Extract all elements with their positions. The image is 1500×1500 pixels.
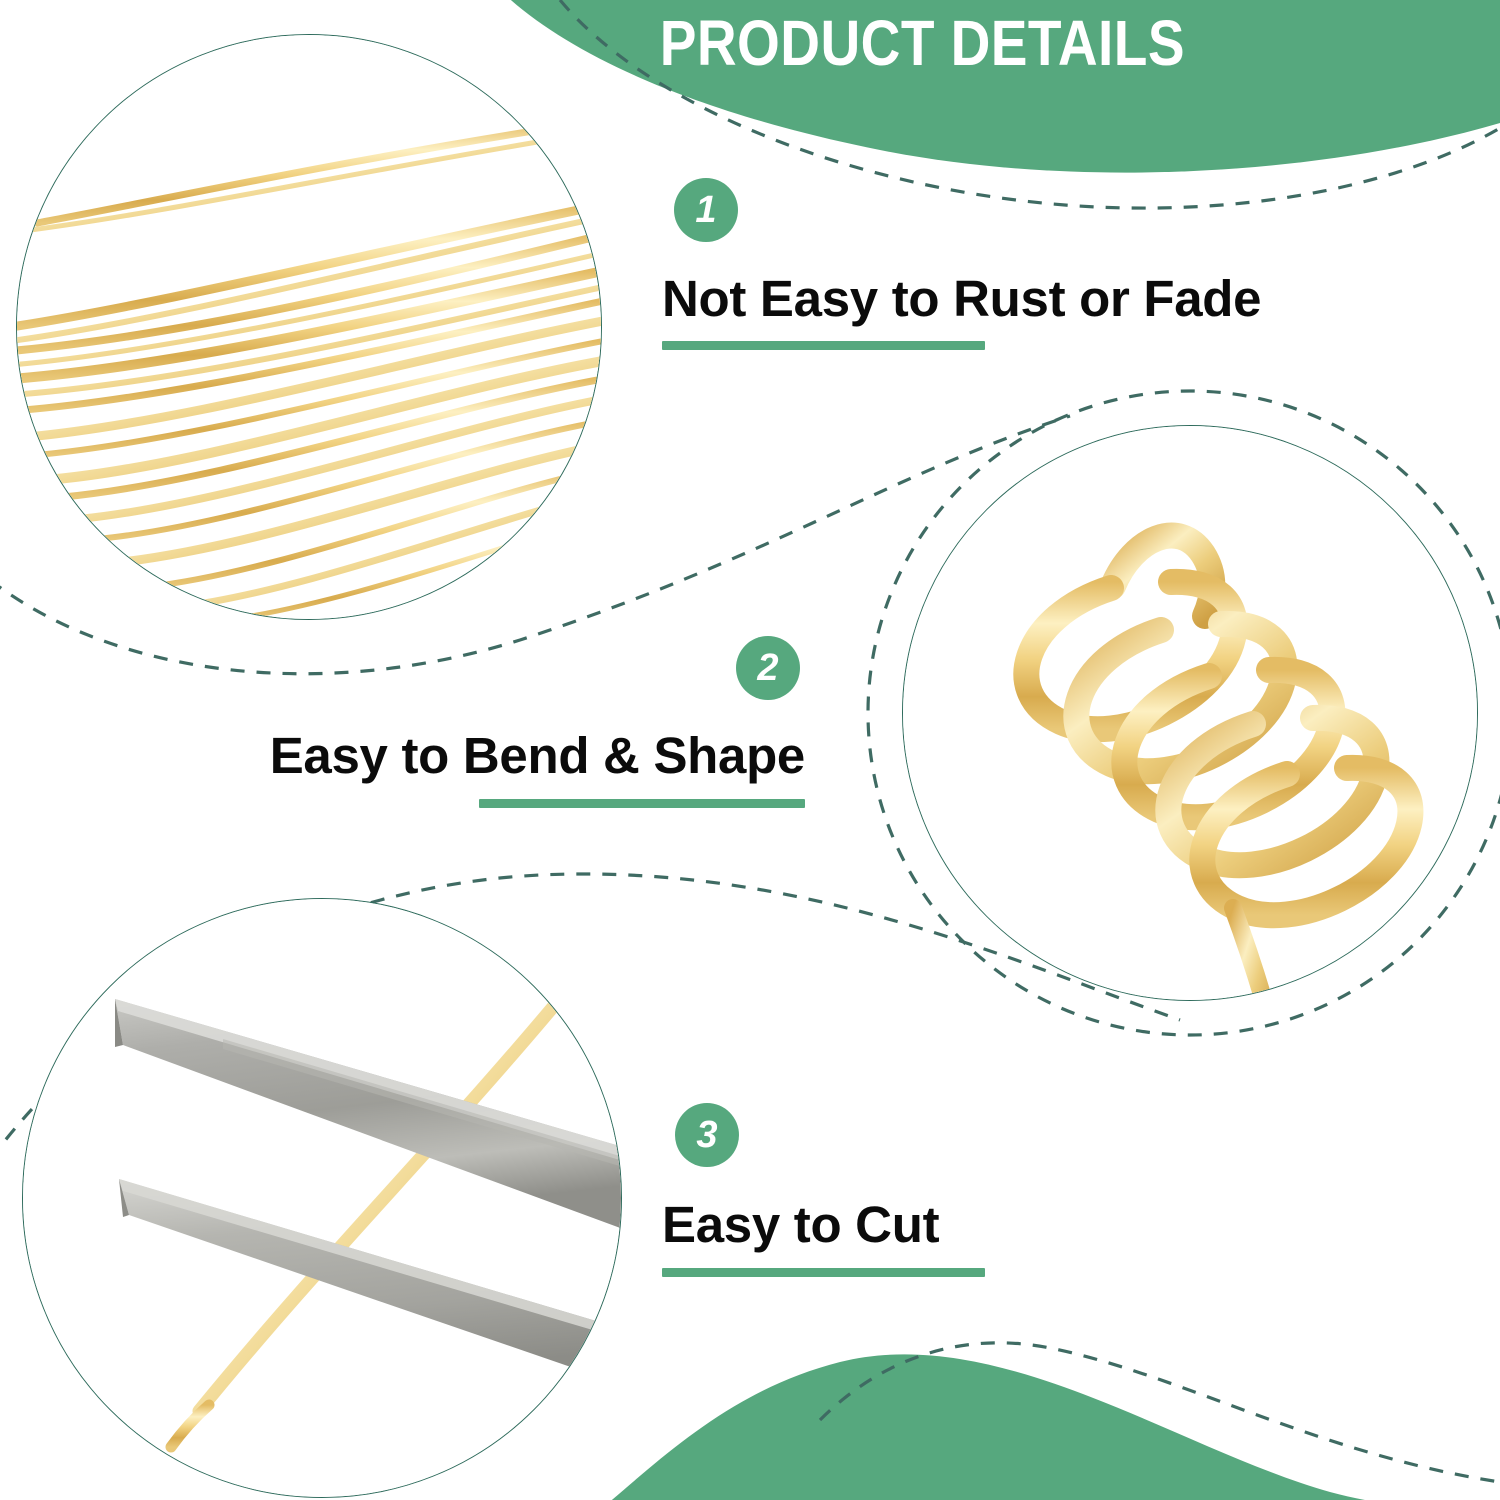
gold-wire-strands-art: [17, 35, 602, 620]
feature-title-2: Easy to Bend & Shape: [240, 728, 805, 784]
wire-cutting-pliers-photo: [22, 898, 622, 1498]
page-title: PRODUCT DETAILS: [645, 8, 1200, 78]
bottom-green-wave: [600, 1354, 1500, 1500]
feature-badge-3: 3: [675, 1103, 739, 1167]
feature-badge-1: 1: [674, 178, 738, 242]
feature-title-3: Easy to Cut: [662, 1197, 985, 1253]
feature-block-2: 2 Easy to Bend & Shape: [240, 636, 805, 808]
feature-block-1: 1 Not Easy to Rust or Fade: [662, 178, 1261, 350]
gold-wire-coil-art: [903, 426, 1478, 1001]
feature-badge-2: 2: [736, 636, 800, 700]
wire-cutting-pliers-art: [23, 899, 622, 1498]
bottom-dashed-curve: [820, 1343, 1500, 1482]
feature-underline-3: [662, 1268, 985, 1277]
gold-wire-strands-photo: [16, 34, 602, 620]
gold-wire-coil-photo: [902, 425, 1478, 1001]
feature-underline-2: [479, 799, 805, 808]
feature-title-1: Not Easy to Rust or Fade: [662, 271, 1261, 327]
feature-underline-1: [662, 341, 985, 350]
feature-block-3: 3 Easy to Cut: [662, 1103, 985, 1277]
infographic-canvas: PRODUCT DETAILS: [0, 0, 1500, 1500]
